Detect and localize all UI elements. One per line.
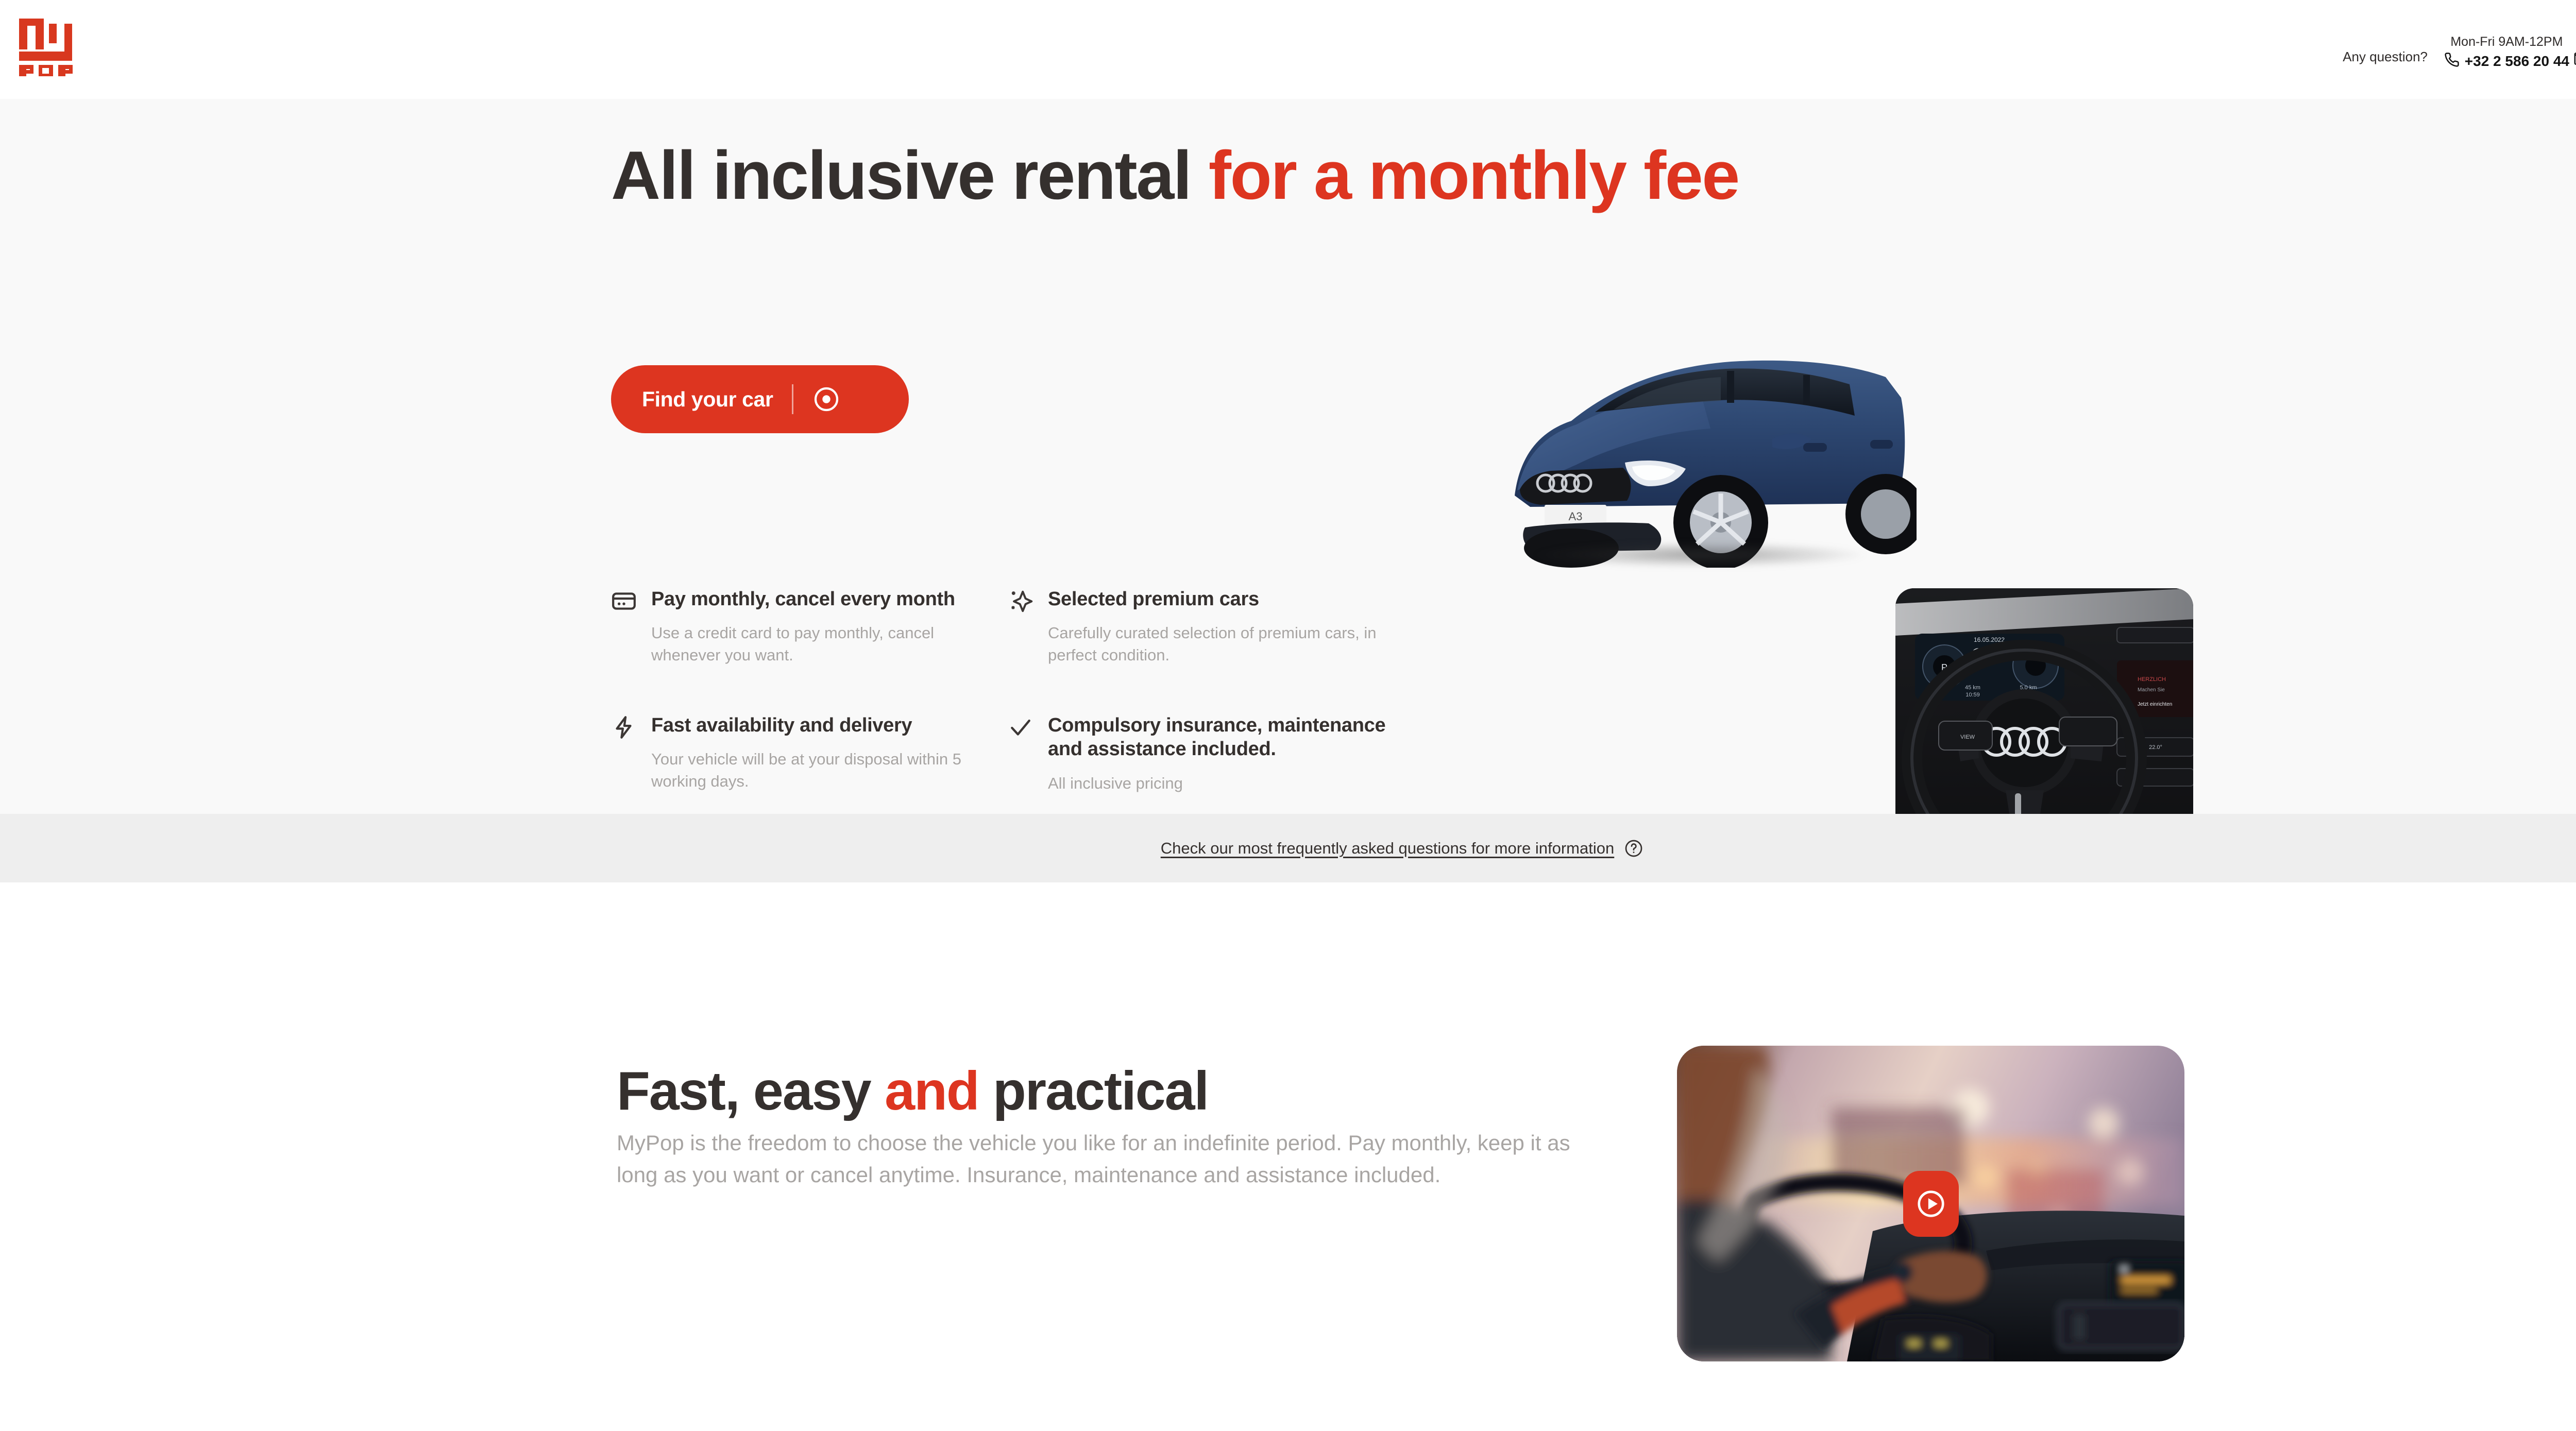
feature-title: Selected premium cars <box>1048 587 1399 611</box>
faq-bar: Check our most frequently asked question… <box>0 814 2576 882</box>
hero-section: All inclusive rental for a monthly fee F… <box>0 99 2576 814</box>
svg-text:Jetzt einrichten: Jetzt einrichten <box>2138 702 2172 707</box>
svg-text:Machen Sie: Machen Sie <box>2138 687 2165 693</box>
svg-text:HERZLICH: HERZLICH <box>2138 676 2166 683</box>
eye-icon <box>812 385 841 414</box>
section2-title: Fast, easy and practical <box>617 1060 1208 1122</box>
feature-title: Pay monthly, cancel every month <box>651 587 992 611</box>
feature-description: Carefully curated selection of premium c… <box>1048 622 1399 667</box>
phone-icon <box>2444 52 2460 71</box>
mypop-logo-icon <box>19 14 79 76</box>
check-icon <box>1008 714 1036 742</box>
sparkle-icon <box>1008 588 1036 616</box>
section2-title-part-2: practical <box>979 1061 1208 1121</box>
faq-link[interactable]: Check our most frequently asked question… <box>1161 839 1643 858</box>
headline-part-2: for a monthly fee <box>1209 138 1739 214</box>
section2-title-accent: and <box>885 1061 978 1121</box>
play-circle-icon <box>1915 1188 1947 1220</box>
svg-text:45 km: 45 km <box>1965 685 1980 691</box>
feature-title: Fast availability and delivery <box>651 713 992 737</box>
find-your-car-label: Find your car <box>642 387 773 412</box>
email-contact[interactable]: All day availability mypop@poppy.be <box>2574 35 2576 69</box>
feature-item-pay-monthly: Pay monthly, cancel every month Use a cr… <box>611 587 992 667</box>
feature-description: Use a credit card to pay monthly, cancel… <box>651 622 992 667</box>
feature-item-fast-availability: Fast availability and delivery Your vehi… <box>611 713 992 793</box>
svg-text:22.0°: 22.0° <box>2149 744 2162 751</box>
lightning-icon <box>611 714 639 742</box>
svg-text:VIEW: VIEW <box>1960 734 1975 740</box>
email-availability-label: All day availability <box>2574 35 2576 49</box>
car-shadow <box>1530 542 1870 568</box>
credit-card-icon <box>611 588 639 616</box>
faq-link-text: Check our most frequently asked question… <box>1161 839 1614 858</box>
page-root: Any question? Mon-Fri 9AM-12PM +32 2 586… <box>0 0 2576 1431</box>
play-video-button[interactable] <box>1903 1171 1959 1237</box>
site-header: Any question? Mon-Fri 9AM-12PM +32 2 586… <box>0 0 2576 99</box>
section2-body-text: MyPop is the freedom to choose the vehic… <box>617 1127 1611 1191</box>
phone-contact[interactable]: Mon-Fri 9AM-12PM +32 2 586 20 44 <box>2444 35 2569 71</box>
phone-number: +32 2 586 20 44 <box>2465 53 2569 70</box>
feature-description: All inclusive pricing <box>1048 773 1399 795</box>
feature-title: Compulsory insurance, maintenance and as… <box>1048 713 1399 761</box>
feature-item-premium-cars: Selected premium cars Carefully curated … <box>1008 587 1399 667</box>
feature-description: Your vehicle will be at your disposal wi… <box>651 748 992 793</box>
mail-icon <box>2574 52 2576 69</box>
svg-text:10:59: 10:59 <box>1965 692 1980 698</box>
mypop-logo[interactable] <box>19 14 79 76</box>
cta-divider <box>792 384 793 414</box>
feature-item-insurance-included: Compulsory insurance, maintenance and as… <box>1008 713 1399 794</box>
car-plate-text: A3 <box>1569 510 1583 523</box>
video-thumbnail-card[interactable] <box>1677 1046 2184 1361</box>
hero-car-image: A3 <box>1494 326 1917 573</box>
headline-part-1: All inclusive rental <box>611 138 1209 214</box>
question-circle-icon <box>1624 839 1643 858</box>
section2-title-part-1: Fast, easy <box>617 1061 885 1121</box>
any-question-label: Any question? <box>2343 49 2428 65</box>
find-your-car-button[interactable]: Find your car <box>611 365 909 433</box>
hero-headline: All inclusive rental for a monthly fee <box>611 137 1811 215</box>
audi-a3-illustration: A3 <box>1494 326 1917 568</box>
phone-availability-label: Mon-Fri 9AM-12PM <box>2444 35 2569 49</box>
fast-easy-practical-section: Fast, easy and practical MyPop is the fr… <box>0 882 2576 1431</box>
